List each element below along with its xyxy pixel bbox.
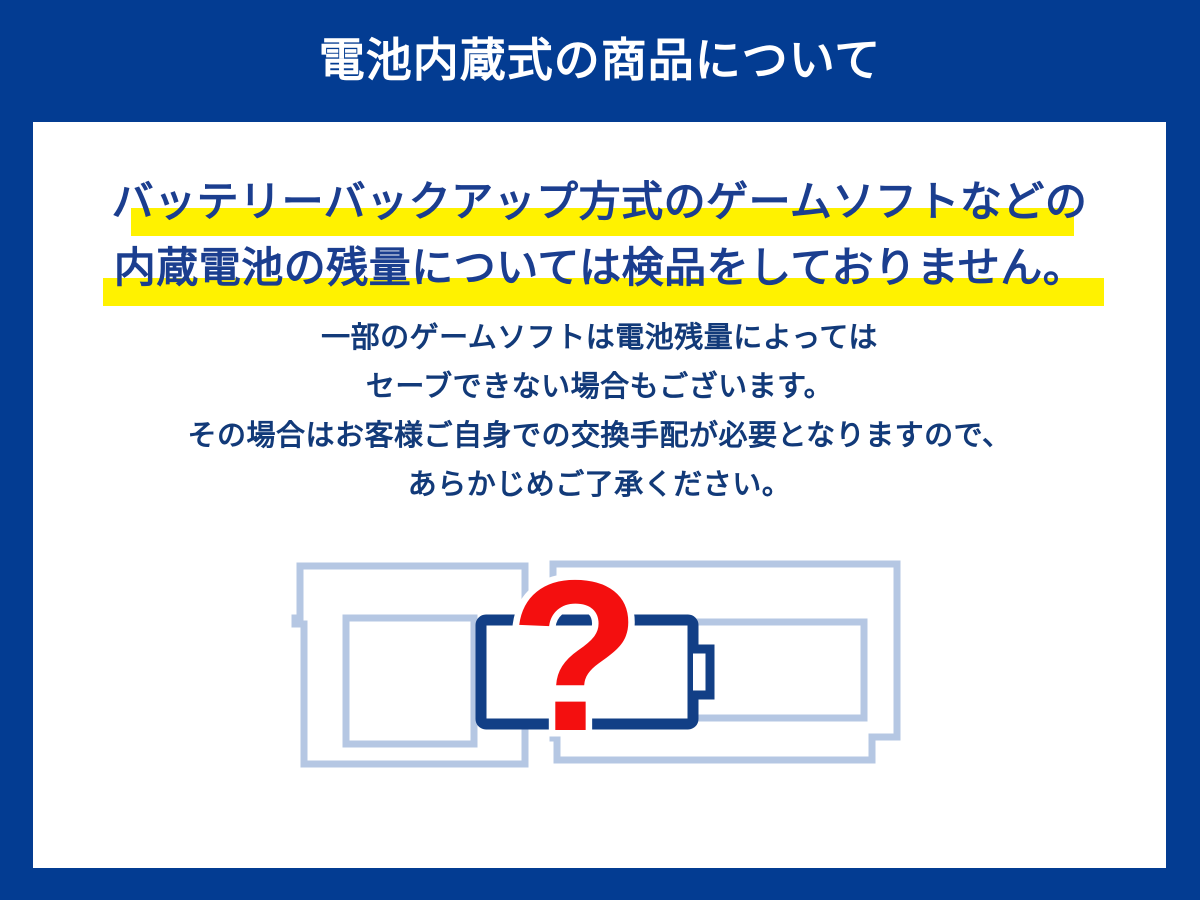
body-paragraph: 一部のゲームソフトは電池残量によっては セーブできない場合もございます。 その場… — [33, 314, 1166, 510]
content-panel: バッテリーバックアップ方式のゲームソフトなどの 内蔵電池の残量については検品をし… — [33, 122, 1166, 868]
headline-line-2: 内蔵電池の残量については検品をしておりません。 — [33, 238, 1166, 298]
body-line-2: セーブできない場合もございます。 — [33, 363, 1166, 412]
headline-line-1: バッテリーバックアップ方式のゲームソフトなどの — [33, 172, 1166, 232]
body-line-1: 一部のゲームソフトは電池残量によっては — [33, 314, 1166, 363]
headline: バッテリーバックアップ方式のゲームソフトなどの 内蔵電池の残量については検品をし… — [33, 172, 1166, 298]
question-mark-icon: ? — [509, 552, 640, 776]
svg-text:?: ? — [509, 552, 640, 776]
headline-line-1-text: バッテリーバックアップ方式のゲームソフトなどの — [112, 178, 1088, 225]
body-line-4: あらかじめご了承ください。 — [33, 461, 1166, 510]
notice-slide: 電池内蔵式の商品について バッテリーバックアップ方式のゲームソフトなどの 内蔵電… — [0, 0, 1200, 900]
title-bar: 電池内蔵式の商品について — [0, 0, 1200, 120]
headline-line-2-text: 内蔵電池の残量については検品をしておりません。 — [114, 244, 1086, 291]
battery-illustration: ? — [33, 552, 1166, 792]
illustration-svg: ? — [280, 552, 920, 782]
body-line-3: その場合はお客様ご自身での交換手配が必要となりますので、 — [33, 412, 1166, 461]
page-title: 電池内蔵式の商品について — [319, 37, 882, 83]
